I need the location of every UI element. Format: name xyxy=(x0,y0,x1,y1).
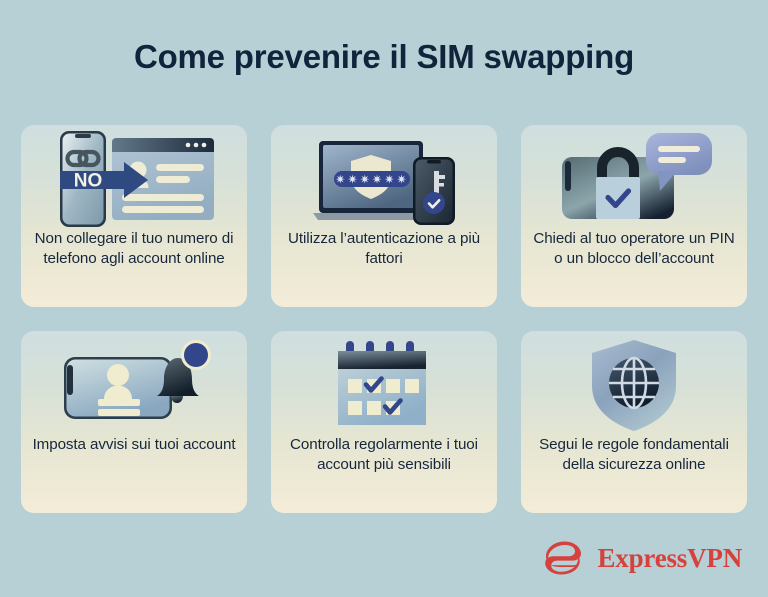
card-label: Utilizza l’autenticazione a più fattori xyxy=(271,229,497,268)
calendar-checkmarks-icon xyxy=(271,331,497,435)
card-security-basics: Segui le regole fondamentali della sicur… xyxy=(521,331,747,513)
card-label: Segui le regole fondamentali della sicur… xyxy=(521,435,747,474)
laptop-shield-password-phone-key-icon: ✷✷✷✷✷✷ xyxy=(271,125,497,229)
card-carrier-pin: Chiedi al tuo operatore un PIN o un bloc… xyxy=(521,125,747,307)
card-label: Imposta avvisi sui tuoi account xyxy=(25,435,244,455)
expressvpn-e-mark xyxy=(544,541,588,575)
svg-text:✷✷✷✷✷✷: ✷✷✷✷✷✷ xyxy=(335,173,409,187)
expressvpn-logo: ExpressVPN xyxy=(544,541,742,575)
card-no-link-phone: NO Non collegare il tuo numero di telefo… xyxy=(21,125,247,307)
shield-globe-icon xyxy=(521,331,747,435)
page-title: Come prevenire il SIM swapping xyxy=(0,38,768,76)
tips-grid: NO Non collegare il tuo numero di telefo… xyxy=(21,125,747,513)
card-label: Controlla regolarmente i tuoi account pi… xyxy=(271,435,497,474)
card-account-alerts: Imposta avvisi sui tuoi account xyxy=(21,331,247,513)
card-regular-checks: Controlla regolarmente i tuoi account pi… xyxy=(271,331,497,513)
svg-text:NO: NO xyxy=(74,171,103,192)
phone-padlock-chat-icon xyxy=(521,125,747,229)
brand-name: ExpressVPN xyxy=(597,543,742,574)
phone-profile-bell-notification-icon xyxy=(21,331,247,435)
card-label: Non collegare il tuo numero di telefono … xyxy=(21,229,247,268)
phone-link-blocked-icon: NO xyxy=(21,125,247,229)
card-multi-factor-auth: ✷✷✷✷✷✷ Utilizza l’autenticazione a più f… xyxy=(271,125,497,307)
card-label: Chiedi al tuo operatore un PIN o un bloc… xyxy=(521,229,747,268)
infographic-page: Come prevenire il SIM swapping xyxy=(0,0,768,597)
